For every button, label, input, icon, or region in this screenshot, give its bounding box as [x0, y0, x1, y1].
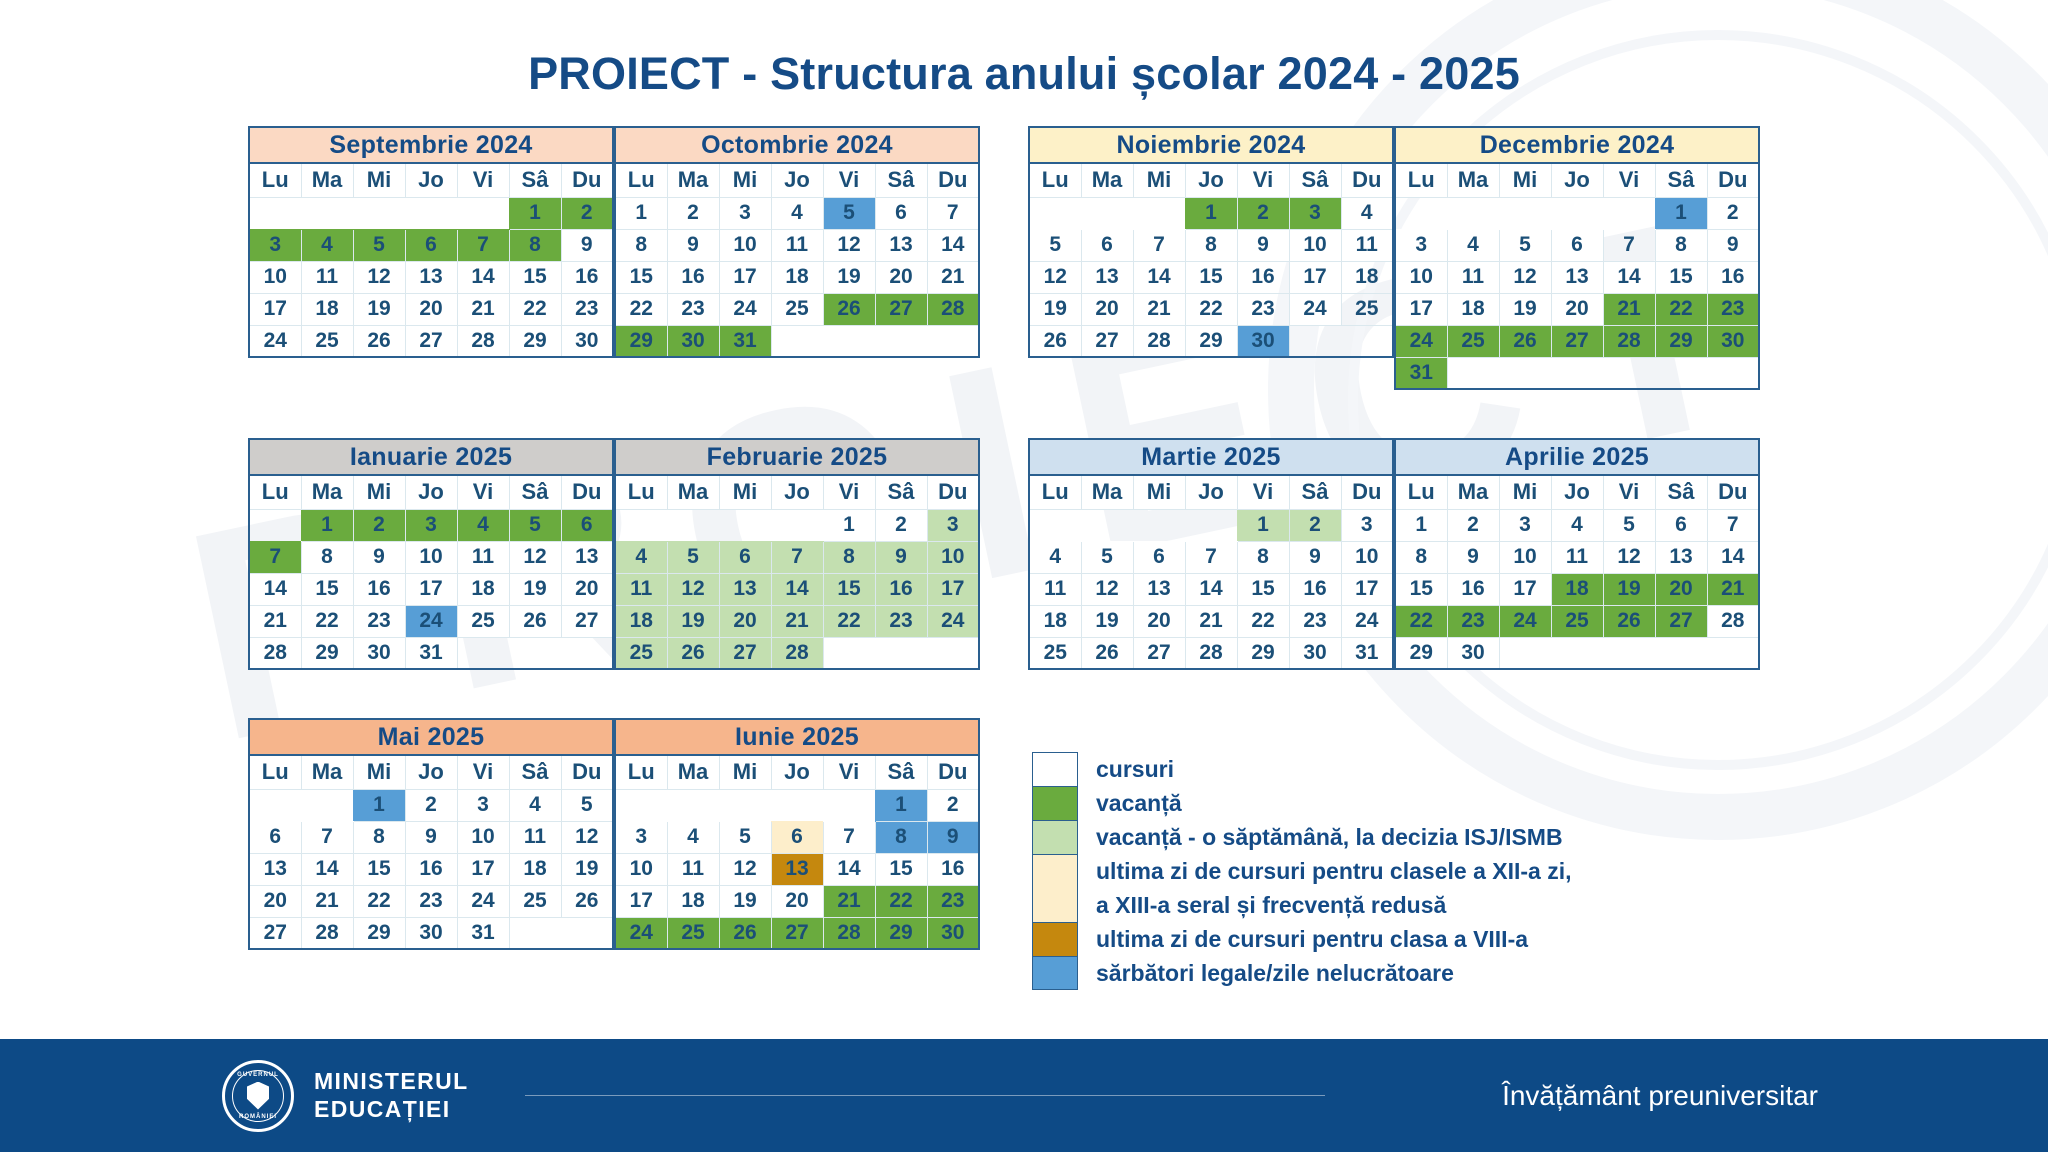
day-cell: 17	[615, 885, 667, 917]
day-cell: 2	[927, 789, 979, 821]
legend-swatch-ultima-zi-cursuri-xii	[1032, 854, 1078, 922]
dow-header-ma: Ma	[667, 755, 719, 789]
day-cell: 24	[457, 885, 509, 917]
empty-cell	[1707, 637, 1759, 669]
dow-header-sâ: Sâ	[1289, 163, 1341, 197]
legend-label: cursuri	[1078, 752, 1174, 786]
day-cell: 14	[249, 573, 301, 605]
day-cell: 26	[667, 637, 719, 669]
dow-header-ma: Ma	[1081, 475, 1133, 509]
day-cell: 22	[353, 885, 405, 917]
day-cell: 8	[615, 229, 667, 261]
dow-header-jo: Jo	[1551, 163, 1603, 197]
day-cell: 15	[1237, 573, 1289, 605]
empty-cell	[1029, 509, 1081, 541]
day-cell: 18	[301, 293, 353, 325]
dow-header-sâ: Sâ	[509, 163, 561, 197]
legend-label: vacanță - o săptămână, la decizia ISJ/IS…	[1078, 820, 1563, 854]
day-cell: 28	[771, 637, 823, 669]
day-cell: 10	[1341, 541, 1393, 573]
day-cell: 16	[1289, 573, 1341, 605]
day-cell: 29	[1185, 325, 1237, 357]
day-cell: 18	[667, 885, 719, 917]
day-cell: 19	[353, 293, 405, 325]
empty-cell	[615, 509, 667, 541]
day-cell: 7	[771, 541, 823, 573]
day-cell: 18	[1551, 573, 1603, 605]
day-cell: 3	[1341, 509, 1393, 541]
day-cell: 23	[1237, 293, 1289, 325]
day-cell: 19	[561, 853, 613, 885]
day-cell: 6	[771, 821, 823, 853]
empty-cell	[1289, 325, 1341, 357]
month-table: Aprilie 2025LuMaMiJoViSâDu12345678910111…	[1394, 438, 1760, 670]
dow-header-jo: Jo	[1185, 475, 1237, 509]
dow-header-du: Du	[561, 755, 613, 789]
day-cell: 27	[561, 605, 613, 637]
day-cell: 10	[1289, 229, 1341, 261]
month-table: Martie 2025LuMaMiJoViSâDu123456789101112…	[1028, 438, 1394, 670]
day-cell: 5	[667, 541, 719, 573]
day-cell: 12	[1081, 573, 1133, 605]
day-cell: 26	[823, 293, 875, 325]
day-cell: 12	[719, 853, 771, 885]
day-cell: 11	[615, 573, 667, 605]
empty-cell	[509, 637, 561, 669]
empty-cell	[1447, 357, 1499, 389]
day-cell: 15	[823, 573, 875, 605]
legend-row: ultima zi de cursuri pentru clasa a VIII…	[1032, 922, 1572, 956]
dow-header-ma: Ma	[1447, 475, 1499, 509]
dow-header-vi: Vi	[1237, 163, 1289, 197]
day-cell: 24	[719, 293, 771, 325]
day-cell: 24	[927, 605, 979, 637]
legend-swatch-ultima-zi-cursuri-viii	[1032, 922, 1078, 956]
day-cell: 17	[249, 293, 301, 325]
day-cell: 9	[667, 229, 719, 261]
legend-label-line1: sărbători legale/zile nelucrătoare	[1096, 960, 1454, 986]
dow-header-mi: Mi	[1133, 475, 1185, 509]
dow-header-vi: Vi	[823, 755, 875, 789]
day-cell: 20	[561, 573, 613, 605]
day-cell: 4	[457, 509, 509, 541]
day-cell: 8	[509, 229, 561, 261]
day-cell: 17	[457, 853, 509, 885]
day-cell: 30	[1447, 637, 1499, 669]
empty-cell	[875, 325, 927, 357]
day-cell: 20	[1133, 605, 1185, 637]
empty-cell	[509, 917, 561, 949]
empty-cell	[457, 637, 509, 669]
day-cell: 29	[615, 325, 667, 357]
dow-header-sâ: Sâ	[875, 163, 927, 197]
day-cell: 29	[1237, 637, 1289, 669]
day-cell: 12	[1603, 541, 1655, 573]
day-cell: 27	[719, 637, 771, 669]
dow-header-sâ: Sâ	[509, 475, 561, 509]
day-cell: 13	[1133, 573, 1185, 605]
empty-cell	[1499, 357, 1551, 389]
dow-header-vi: Vi	[457, 163, 509, 197]
month-table: Decembrie 2024LuMaMiJoViSâDu123456789101…	[1394, 126, 1760, 390]
day-cell: 12	[353, 261, 405, 293]
day-cell: 5	[353, 229, 405, 261]
day-cell: 24	[615, 917, 667, 949]
day-cell: 3	[405, 509, 457, 541]
ministry-line-1: MINISTERUL	[314, 1068, 469, 1095]
day-cell: 25	[509, 885, 561, 917]
empty-cell	[1081, 197, 1133, 229]
day-cell: 13	[561, 541, 613, 573]
day-cell: 11	[457, 541, 509, 573]
month-table: Octombrie 2024LuMaMiJoViSâDu123456789101…	[614, 126, 980, 358]
day-cell: 8	[875, 821, 927, 853]
day-cell: 15	[353, 853, 405, 885]
day-cell: 4	[301, 229, 353, 261]
day-cell: 22	[1655, 293, 1707, 325]
day-cell: 30	[405, 917, 457, 949]
legend: cursurivacanțăvacanță - o săptămână, la …	[1032, 752, 1572, 990]
day-cell: 1	[1237, 509, 1289, 541]
day-cell: 4	[667, 821, 719, 853]
empty-cell	[667, 789, 719, 821]
day-cell: 30	[1289, 637, 1341, 669]
day-cell: 21	[457, 293, 509, 325]
day-cell: 13	[1551, 261, 1603, 293]
day-cell: 23	[353, 605, 405, 637]
day-cell: 26	[719, 917, 771, 949]
day-cell: 14	[771, 573, 823, 605]
month-title: Noiembrie 2024	[1029, 127, 1393, 163]
day-cell: 30	[561, 325, 613, 357]
day-cell: 9	[405, 821, 457, 853]
day-cell: 23	[667, 293, 719, 325]
day-cell: 17	[719, 261, 771, 293]
day-cell: 29	[1655, 325, 1707, 357]
month-table: Iunie 2025LuMaMiJoViSâDu1234567891011121…	[614, 718, 980, 950]
day-cell: 31	[1341, 637, 1393, 669]
day-cell: 16	[667, 261, 719, 293]
legend-swatch-sarbatori-legale	[1032, 956, 1078, 990]
day-cell: 22	[615, 293, 667, 325]
empty-cell	[1185, 509, 1237, 541]
dow-header-lu: Lu	[1029, 163, 1081, 197]
footer-divider	[525, 1095, 1325, 1096]
day-cell: 16	[875, 573, 927, 605]
day-cell: 6	[1081, 229, 1133, 261]
dow-header-sâ: Sâ	[1655, 163, 1707, 197]
empty-cell	[1551, 357, 1603, 389]
dow-header-du: Du	[927, 163, 979, 197]
dow-header-ma: Ma	[667, 475, 719, 509]
day-cell: 18	[1341, 261, 1393, 293]
day-cell: 28	[1707, 605, 1759, 637]
day-cell: 2	[1237, 197, 1289, 229]
day-cell: 7	[301, 821, 353, 853]
dow-header-ma: Ma	[301, 475, 353, 509]
day-cell: 10	[405, 541, 457, 573]
dow-header-lu: Lu	[249, 163, 301, 197]
empty-cell	[771, 325, 823, 357]
day-cell: 8	[823, 541, 875, 573]
day-cell: 16	[1447, 573, 1499, 605]
dow-header-du: Du	[1341, 475, 1393, 509]
day-cell: 9	[875, 541, 927, 573]
day-cell: 16	[405, 853, 457, 885]
day-cell: 30	[1237, 325, 1289, 357]
dow-header-du: Du	[1707, 475, 1759, 509]
day-cell: 28	[927, 293, 979, 325]
day-cell: 21	[1185, 605, 1237, 637]
ministry-line-2: EDUCAȚIEI	[314, 1096, 469, 1123]
day-cell: 9	[927, 821, 979, 853]
dow-header-jo: Jo	[771, 755, 823, 789]
day-cell: 7	[1185, 541, 1237, 573]
day-cell: 18	[457, 573, 509, 605]
day-cell: 10	[1395, 261, 1447, 293]
empty-cell	[1133, 197, 1185, 229]
day-cell: 3	[1289, 197, 1341, 229]
month-pair-mai-iun: Mai 2025LuMaMiJoViSâDu123456789101112131…	[248, 718, 980, 950]
day-cell: 23	[1289, 605, 1341, 637]
day-cell: 3	[1499, 509, 1551, 541]
day-cell: 4	[1447, 229, 1499, 261]
dow-header-du: Du	[1707, 163, 1759, 197]
day-cell: 13	[1081, 261, 1133, 293]
legend-row: vacanță	[1032, 786, 1572, 820]
day-cell: 22	[509, 293, 561, 325]
day-cell: 11	[667, 853, 719, 885]
dow-header-mi: Mi	[1499, 475, 1551, 509]
day-cell: 12	[509, 541, 561, 573]
empty-cell	[823, 789, 875, 821]
day-cell: 9	[1447, 541, 1499, 573]
day-cell: 4	[1551, 509, 1603, 541]
ministry-name: MINISTERUL EDUCAȚIEI	[314, 1068, 469, 1122]
month-title: Aprilie 2025	[1395, 439, 1759, 475]
day-cell: 31	[1395, 357, 1447, 389]
day-cell: 8	[1185, 229, 1237, 261]
day-cell: 8	[1237, 541, 1289, 573]
dow-header-sâ: Sâ	[1289, 475, 1341, 509]
day-cell: 2	[875, 509, 927, 541]
empty-cell	[1447, 197, 1499, 229]
day-cell: 17	[1499, 573, 1551, 605]
day-cell: 27	[249, 917, 301, 949]
dow-header-jo: Jo	[771, 163, 823, 197]
dow-header-ma: Ma	[301, 163, 353, 197]
dow-header-mi: Mi	[719, 475, 771, 509]
empty-cell	[771, 509, 823, 541]
empty-cell	[353, 197, 405, 229]
day-cell: 7	[823, 821, 875, 853]
dow-header-ma: Ma	[1447, 163, 1499, 197]
dow-header-jo: Jo	[771, 475, 823, 509]
dow-header-lu: Lu	[615, 163, 667, 197]
day-cell: 15	[301, 573, 353, 605]
day-cell: 11	[301, 261, 353, 293]
day-cell: 19	[1603, 573, 1655, 605]
day-cell: 30	[353, 637, 405, 669]
day-cell: 4	[1029, 541, 1081, 573]
day-cell: 22	[875, 885, 927, 917]
day-cell: 2	[561, 197, 613, 229]
dow-header-vi: Vi	[1603, 163, 1655, 197]
day-cell: 25	[615, 637, 667, 669]
day-cell: 16	[1707, 261, 1759, 293]
day-cell: 24	[249, 325, 301, 357]
day-cell: 26	[1029, 325, 1081, 357]
day-cell: 27	[405, 325, 457, 357]
day-cell: 11	[1551, 541, 1603, 573]
day-cell: 18	[509, 853, 561, 885]
crest-shape	[247, 1082, 269, 1110]
day-cell: 22	[1237, 605, 1289, 637]
day-cell: 23	[927, 885, 979, 917]
day-cell: 19	[823, 261, 875, 293]
day-cell: 12	[1029, 261, 1081, 293]
day-cell: 28	[823, 917, 875, 949]
day-cell: 20	[719, 605, 771, 637]
day-cell: 9	[353, 541, 405, 573]
empty-cell	[249, 197, 301, 229]
calendar-area: Septembrie 2024LuMaMiJoViSâDu12345678910…	[0, 126, 2048, 950]
dow-header-du: Du	[927, 755, 979, 789]
day-cell: 3	[457, 789, 509, 821]
day-cell: 19	[1499, 293, 1551, 325]
month-table: Septembrie 2024LuMaMiJoViSâDu12345678910…	[248, 126, 614, 358]
page-title: PROIECT - Structura anului școlar 2024 -…	[0, 0, 2048, 100]
day-cell: 18	[1447, 293, 1499, 325]
dow-header-jo: Jo	[405, 755, 457, 789]
legend-swatch-vacanta	[1032, 786, 1078, 820]
day-cell: 3	[249, 229, 301, 261]
day-cell: 19	[509, 573, 561, 605]
empty-cell	[249, 789, 301, 821]
footer-bar: GUVERNUL ROMÂNIEI MINISTERUL EDUCAȚIEI Î…	[0, 1039, 2048, 1152]
dow-header-mi: Mi	[719, 755, 771, 789]
day-cell: 17	[1289, 261, 1341, 293]
day-cell: 11	[1029, 573, 1081, 605]
day-cell: 30	[1707, 325, 1759, 357]
day-cell: 17	[927, 573, 979, 605]
day-cell: 22	[823, 605, 875, 637]
day-cell: 24	[405, 605, 457, 637]
legend-label-line1: vacanță - o săptămână, la decizia ISJ/IS…	[1096, 824, 1563, 850]
day-cell: 19	[719, 885, 771, 917]
day-cell: 7	[1133, 229, 1185, 261]
government-seal-icon: GUVERNUL ROMÂNIEI	[222, 1060, 294, 1132]
empty-cell	[1603, 197, 1655, 229]
day-cell: 23	[1707, 293, 1759, 325]
day-cell: 2	[405, 789, 457, 821]
dow-header-ma: Ma	[1081, 163, 1133, 197]
day-cell: 15	[1395, 573, 1447, 605]
day-cell: 15	[875, 853, 927, 885]
day-cell: 13	[1655, 541, 1707, 573]
empty-cell	[1341, 325, 1393, 357]
dow-header-mi: Mi	[1133, 163, 1185, 197]
month-table: Mai 2025LuMaMiJoViSâDu123456789101112131…	[248, 718, 614, 950]
day-cell: 22	[1185, 293, 1237, 325]
day-cell: 21	[771, 605, 823, 637]
day-cell: 17	[405, 573, 457, 605]
day-cell: 3	[615, 821, 667, 853]
day-cell: 30	[927, 917, 979, 949]
dow-header-ma: Ma	[301, 755, 353, 789]
day-cell: 1	[1395, 509, 1447, 541]
day-cell: 21	[301, 885, 353, 917]
dow-header-lu: Lu	[1029, 475, 1081, 509]
legend-label-line1: cursuri	[1096, 756, 1174, 782]
day-cell: 7	[249, 541, 301, 573]
dow-header-vi: Vi	[823, 475, 875, 509]
ministry-logo: GUVERNUL ROMÂNIEI MINISTERUL EDUCAȚIEI	[222, 1060, 469, 1132]
empty-cell	[301, 197, 353, 229]
day-cell: 26	[1603, 605, 1655, 637]
day-cell: 20	[249, 885, 301, 917]
day-cell: 31	[719, 325, 771, 357]
day-cell: 27	[1081, 325, 1133, 357]
day-cell: 18	[771, 261, 823, 293]
legend-label-line2: a XIII-a seral și frecvență redusă	[1096, 888, 1572, 922]
day-cell: 20	[771, 885, 823, 917]
day-cell: 14	[1133, 261, 1185, 293]
dow-header-lu: Lu	[249, 755, 301, 789]
seal-bottom-text: ROMÂNIEI	[239, 1114, 277, 1120]
dow-header-vi: Vi	[823, 163, 875, 197]
day-cell: 6	[1133, 541, 1185, 573]
day-cell: 27	[1133, 637, 1185, 669]
day-cell: 28	[1133, 325, 1185, 357]
day-cell: 5	[1081, 541, 1133, 573]
day-cell: 28	[1185, 637, 1237, 669]
empty-cell	[1603, 357, 1655, 389]
day-cell: 1	[1185, 197, 1237, 229]
dow-header-mi: Mi	[353, 475, 405, 509]
day-cell: 14	[1707, 541, 1759, 573]
day-cell: 29	[875, 917, 927, 949]
day-cell: 3	[1395, 229, 1447, 261]
day-cell: 6	[1655, 509, 1707, 541]
day-cell: 15	[615, 261, 667, 293]
day-cell: 21	[823, 885, 875, 917]
month-title: Octombrie 2024	[615, 127, 979, 163]
day-cell: 1	[615, 197, 667, 229]
day-cell: 11	[1341, 229, 1393, 261]
footer-right-text: Învățământ preuniversitar	[1502, 1080, 1818, 1112]
dow-header-vi: Vi	[1237, 475, 1289, 509]
day-cell: 19	[667, 605, 719, 637]
day-cell: 13	[771, 853, 823, 885]
day-cell: 17	[1341, 573, 1393, 605]
legend-row: ultima zi de cursuri pentru clasele a XI…	[1032, 854, 1572, 922]
empty-cell	[1551, 197, 1603, 229]
dow-header-jo: Jo	[405, 475, 457, 509]
day-cell: 10	[927, 541, 979, 573]
empty-cell	[1133, 509, 1185, 541]
month-title: Iunie 2025	[615, 719, 979, 755]
day-cell: 30	[667, 325, 719, 357]
day-cell: 26	[353, 325, 405, 357]
day-cell: 8	[353, 821, 405, 853]
legend-row: cursuri	[1032, 752, 1572, 786]
day-cell: 29	[353, 917, 405, 949]
day-cell: 13	[249, 853, 301, 885]
day-cell: 22	[301, 605, 353, 637]
legend-swatch-vacanta-o-saptamana	[1032, 820, 1078, 854]
legend-label-line1: vacanță	[1096, 790, 1182, 816]
